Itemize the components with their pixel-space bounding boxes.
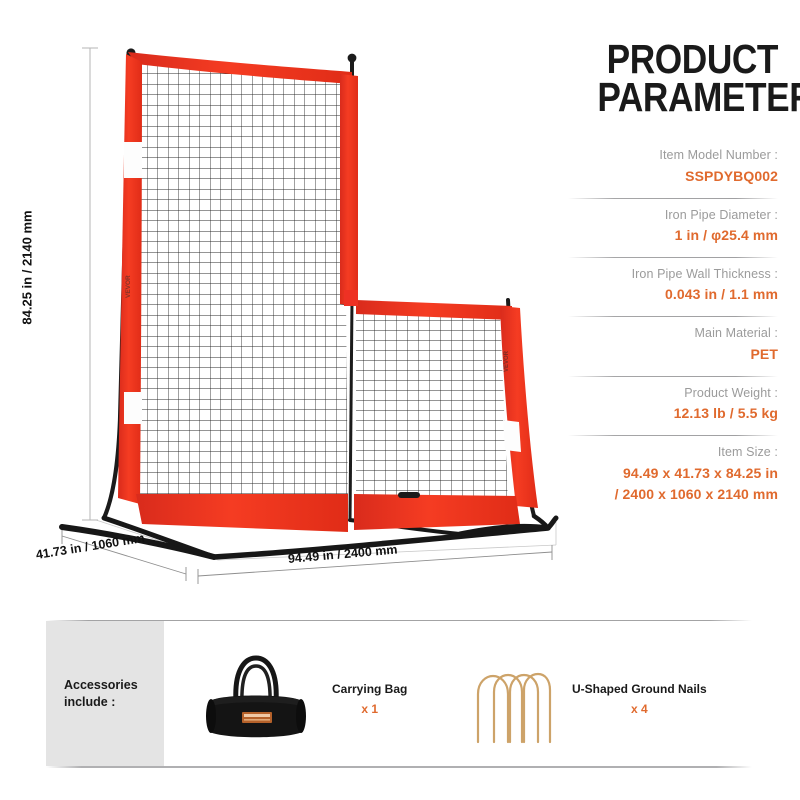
accessory-name: Carrying Bag [332, 680, 407, 698]
spec-value-line-1: 94.49 x 41.73 x 84.25 in [568, 463, 778, 484]
svg-text:VEVOR: VEVOR [125, 275, 132, 298]
spec-divider [568, 316, 778, 317]
lower-left-net-panel [138, 300, 348, 500]
spec-value: PET [568, 344, 778, 365]
accessory-item-ground-nails: U-Shaped Ground Nails x 4 [470, 642, 707, 753]
spec-row-model-number: Item Model Number : SSPDYBQ002 [568, 146, 778, 192]
accessory-qty: x 4 [572, 702, 707, 716]
spec-value: SSPDYBQ002 [568, 166, 778, 187]
spec-value-line-2: / 2400 x 1060 x 2140 mm [568, 484, 778, 505]
product-parameters-page: VEVOR VEVOR 84.25 in / 2140 mm 41.73 in … [0, 0, 800, 800]
spec-value: 0.043 in / 1.1 mm [568, 284, 778, 305]
spec-row-product-weight: Product Weight : 12.13 lb / 5.5 kg [568, 384, 778, 430]
spec-row-pipe-diameter: Iron Pipe Diameter : 1 in / φ25.4 mm [568, 206, 778, 252]
page-title-line-1: PRODUCT [597, 40, 778, 78]
spec-label: Iron Pipe Wall Thickness : [568, 265, 778, 284]
specification-list: Item Model Number : SSPDYBQ002 Iron Pipe… [568, 146, 778, 510]
svg-text:VEVOR: VEVOR [504, 350, 510, 372]
spec-divider [568, 435, 778, 436]
page-title-line-2: PARAMETERS [597, 78, 778, 116]
lower-right-net-panel [356, 308, 508, 502]
carrying-bag-icon [196, 640, 316, 755]
specifications-column: PRODUCT PARAMETERS Item Model Number : S… [568, 40, 778, 511]
ground-nails-icon [470, 642, 556, 753]
spec-row-main-material: Main Material : PET [568, 324, 778, 370]
spec-divider [568, 198, 778, 199]
spec-value: 1 in / φ25.4 mm [568, 225, 778, 246]
accessory-name: U-Shaped Ground Nails [572, 680, 707, 698]
accessories-heading-line-2: include : [64, 694, 138, 711]
upper-net-panel [138, 60, 346, 300]
height-dimension-label: 84.25 in / 2140 mm [20, 203, 35, 333]
base-clip [398, 492, 420, 498]
spec-row-pipe-wall-thickness: Iron Pipe Wall Thickness : 0.043 in / 1.… [568, 265, 778, 311]
spec-label: Product Weight : [568, 384, 778, 403]
spec-row-item-size: Item Size : 94.49 x 41.73 x 84.25 in / 2… [568, 443, 778, 510]
spec-label: Item Size : [568, 443, 778, 462]
product-diagram-svg: VEVOR VEVOR [0, 0, 568, 600]
page-title: PRODUCT PARAMETERS [597, 40, 778, 116]
product-illustration: VEVOR VEVOR 84.25 in / 2140 mm 41.73 in … [0, 0, 568, 600]
spec-value: 12.13 lb / 5.5 kg [568, 403, 778, 424]
spec-label: Iron Pipe Diameter : [568, 206, 778, 225]
spec-divider [568, 257, 778, 258]
accessories-heading: Accessories include : [46, 677, 138, 711]
accessory-qty: x 1 [332, 702, 407, 716]
spec-value-wrapper: 94.49 x 41.73 x 84.25 in / 2400 x 1060 x… [568, 463, 778, 505]
accessories-divider-bottom [46, 766, 752, 768]
accessories-heading-line-1: Accessories [64, 677, 138, 694]
accessory-item-carrying-bag: Carrying Bag x 1 [196, 640, 407, 755]
carrying-bag-text: Carrying Bag x 1 [332, 680, 407, 716]
spec-label: Item Model Number : [568, 146, 778, 165]
ground-nails-text: U-Shaped Ground Nails x 4 [572, 680, 707, 716]
spec-label: Main Material : [568, 324, 778, 343]
accessories-label-panel: Accessories include : [46, 621, 164, 766]
height-dimension-line [82, 48, 98, 520]
spec-divider [568, 376, 778, 377]
